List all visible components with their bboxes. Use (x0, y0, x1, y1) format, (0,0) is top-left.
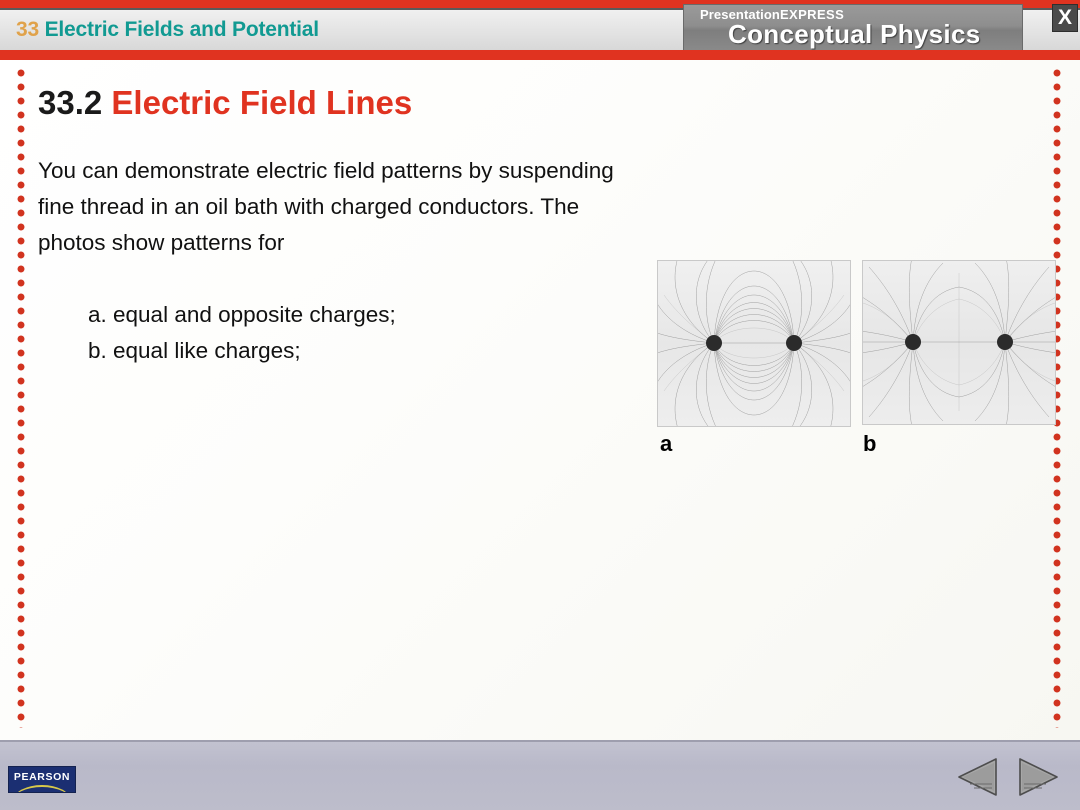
charge-marker-left (905, 334, 921, 350)
brand-conceptual-physics: Conceptual Physics (728, 19, 980, 50)
app-header: 33 Electric Fields and Potential Present… (0, 0, 1080, 60)
slide-sub-list: a. equal and opposite charges; b. equal … (88, 297, 648, 369)
list-item: b. equal like charges; (88, 333, 648, 369)
slide-canvas: 33.2 Electric Field Lines You can demons… (0, 60, 1080, 740)
figure-b-label: b (863, 431, 876, 457)
slide-title: 33.2 Electric Field Lines (38, 84, 412, 122)
app-footer: PEARSON (0, 740, 1080, 810)
slide-body-text: You can demonstrate electric field patte… (38, 153, 638, 261)
slide-border-dots-left (16, 68, 26, 728)
dipole-field-pattern-icon (658, 261, 850, 426)
chapter-number: 33 (16, 18, 39, 41)
figure-a-photo (657, 260, 851, 427)
pearson-logo-arc (13, 785, 71, 793)
list-item: a. equal and opposite charges; (88, 297, 648, 333)
chapter-name: Electric Fields and Potential (45, 18, 319, 41)
charge-marker-right (786, 335, 802, 351)
like-charges-field-pattern-icon (863, 261, 1055, 424)
pearson-logo: PEARSON (8, 766, 76, 793)
pearson-logo-text: PEARSON (9, 771, 75, 783)
figure-a-label: a (660, 431, 672, 457)
next-slide-button[interactable] (1012, 756, 1060, 798)
section-number: 33.2 (38, 84, 102, 121)
brand-logo-panel: PresentationEXPRESS Conceptual Physics (683, 4, 1023, 52)
charge-marker-right (997, 334, 1013, 350)
section-title: Electric Field Lines (111, 84, 412, 121)
header-accent-bar-bottom (0, 50, 1080, 60)
figure-b-photo (862, 260, 1056, 425)
previous-slide-button[interactable] (956, 756, 1004, 798)
close-button[interactable]: X (1052, 4, 1078, 32)
charge-marker-left (706, 335, 722, 351)
chapter-title: 33 Electric Fields and Potential (16, 18, 319, 42)
